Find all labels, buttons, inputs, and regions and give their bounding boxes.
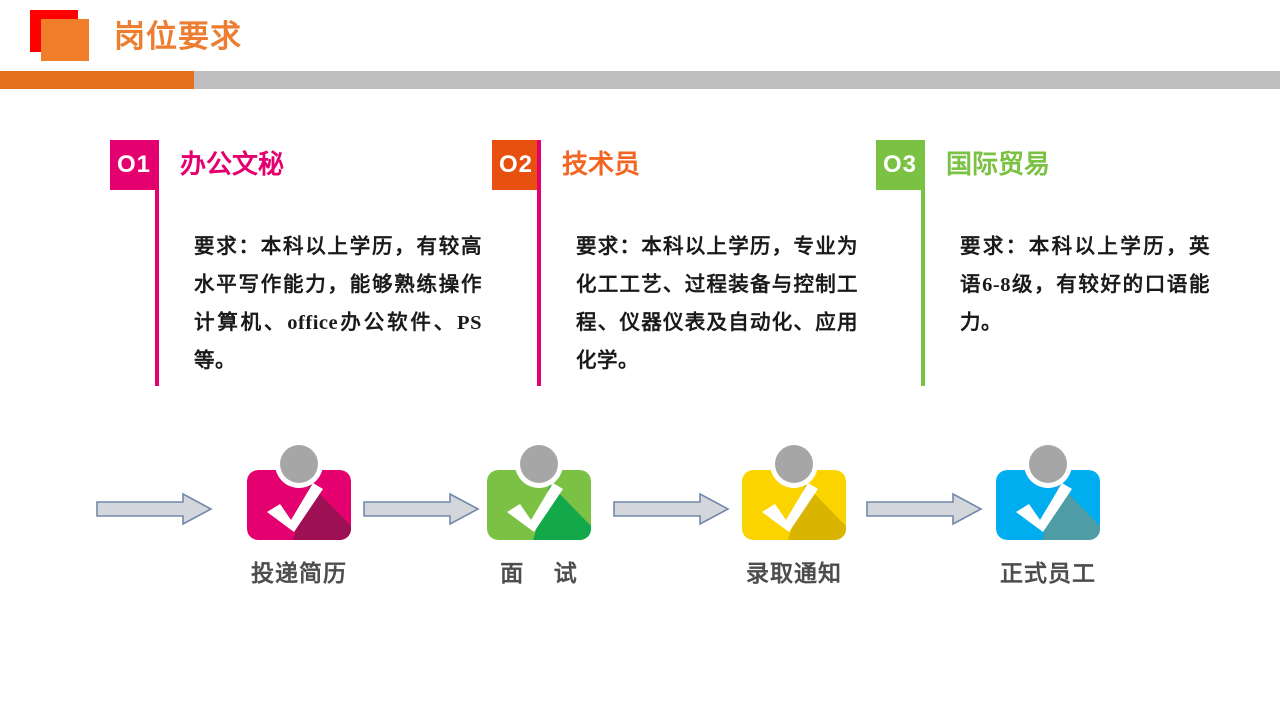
column-heading-1: 办公文秘: [180, 143, 284, 185]
process-arrow-3: [612, 492, 730, 526]
process-step-1[interactable]: 投递简历: [224, 440, 374, 588]
decor-square-orange: [41, 19, 89, 61]
clipboard-check-icon: [996, 440, 1100, 540]
hiring-process-flow: 投递简历面 试录取通知正式员工: [0, 440, 1280, 650]
header-rule-orange: [0, 71, 194, 89]
column-divider-line-3: [921, 140, 925, 386]
process-arrow-2: [362, 492, 480, 526]
column-heading-2: 技术员: [562, 143, 640, 185]
column-divider-line-1: [155, 140, 159, 386]
process-step-4[interactable]: 正式员工: [973, 440, 1123, 588]
page-title: 岗位要求: [114, 18, 242, 56]
avatar: [280, 445, 318, 483]
column-divider-line-2: [537, 140, 541, 386]
column-body-1: 要求：本科以上学历，有较高水平写作能力，能够熟练操作计算机、office办公软件…: [194, 228, 482, 380]
process-step-label-1: 投递简历: [224, 554, 374, 588]
column-number-badge-2: O2: [492, 140, 540, 190]
process-step-label-4: 正式员工: [973, 554, 1123, 588]
process-arrow-1: [95, 492, 213, 526]
avatar: [775, 445, 813, 483]
column-number-badge-3: O3: [876, 140, 924, 190]
clipboard-check-icon: [247, 440, 351, 540]
slide-canvas: 岗位要求 O1 办公文秘 要求：本科以上学历，有较高水平写作能力，能够熟练操作计…: [0, 0, 1280, 720]
process-arrow-4: [865, 492, 983, 526]
process-step-label-2: 面 试: [464, 554, 614, 588]
clipboard-check-icon: [742, 440, 846, 540]
column-body-3: 要求：本科以上学历，英语6-8级，有较好的口语能力。: [960, 228, 1210, 342]
process-step-label-3: 录取通知: [719, 554, 869, 588]
avatar: [520, 445, 558, 483]
column-number-badge-1: O1: [110, 140, 158, 190]
column-body-2: 要求：本科以上学历，专业为化工工艺、过程装备与控制工程、仪器仪表及自动化、应用化…: [576, 228, 858, 380]
column-heading-3: 国际贸易: [946, 143, 1050, 185]
clipboard-check-icon: [487, 440, 591, 540]
process-step-3[interactable]: 录取通知: [719, 440, 869, 588]
avatar: [1029, 445, 1067, 483]
process-step-2[interactable]: 面 试: [464, 440, 614, 588]
